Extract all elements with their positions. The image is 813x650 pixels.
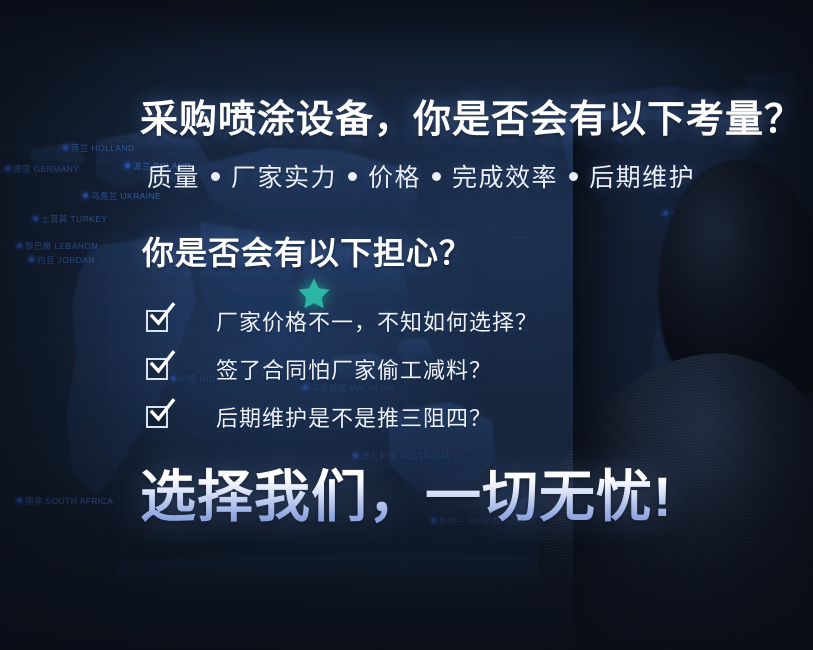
consideration-item: 厂家实力	[231, 158, 337, 194]
consideration-list: 质量厂家实力价格完成效率后期维护	[147, 158, 695, 194]
checklist-item-label: 后期维护是不是推三阻四？	[216, 401, 492, 433]
consideration-item: 价格	[368, 158, 421, 194]
consideration-item: 完成效率	[452, 158, 558, 194]
bullet-separator-icon	[432, 172, 441, 181]
headline-secondary: 你是否会有以下担心？	[142, 228, 472, 274]
checkbox-checked-icon[interactable]	[146, 406, 168, 428]
checklist-item-label: 厂家价格不一，不知如何选择？	[216, 305, 538, 337]
headline-slogan: 选择我们，一切无忧!	[140, 452, 673, 533]
worry-checklist: 厂家价格不一，不知如何选择？签了合同怕厂家偷工减料？后期维护是不是推三阻四？	[146, 300, 538, 444]
checklist-item-label: 签了合同怕厂家偷工减料？	[216, 353, 492, 385]
checkbox-checked-icon[interactable]	[146, 310, 168, 332]
list-item: 后期维护是不是推三阻四？	[146, 396, 538, 438]
banner-content: 采购喷涂设备，你是否会有以下考量？ 质量厂家实力价格完成效率后期维护 你是否会有…	[140, 0, 800, 650]
checkbox-checked-icon[interactable]	[146, 358, 168, 380]
consideration-item: 质量	[147, 158, 200, 194]
bullet-separator-icon	[569, 172, 578, 181]
consideration-item: 后期维护	[589, 158, 695, 194]
list-item: 签了合同怕厂家偷工减料？	[146, 348, 538, 390]
bullet-separator-icon	[348, 172, 357, 181]
bullet-separator-icon	[211, 172, 220, 181]
list-item: 厂家价格不一，不知如何选择？	[146, 300, 538, 342]
promo-banner: 荷兰 HOLLAND德国 GERMANY波兰 POLAND乌克兰 UKRAINE…	[0, 0, 813, 650]
headline-primary: 采购喷涂设备，你是否会有以下考量？	[140, 88, 803, 143]
